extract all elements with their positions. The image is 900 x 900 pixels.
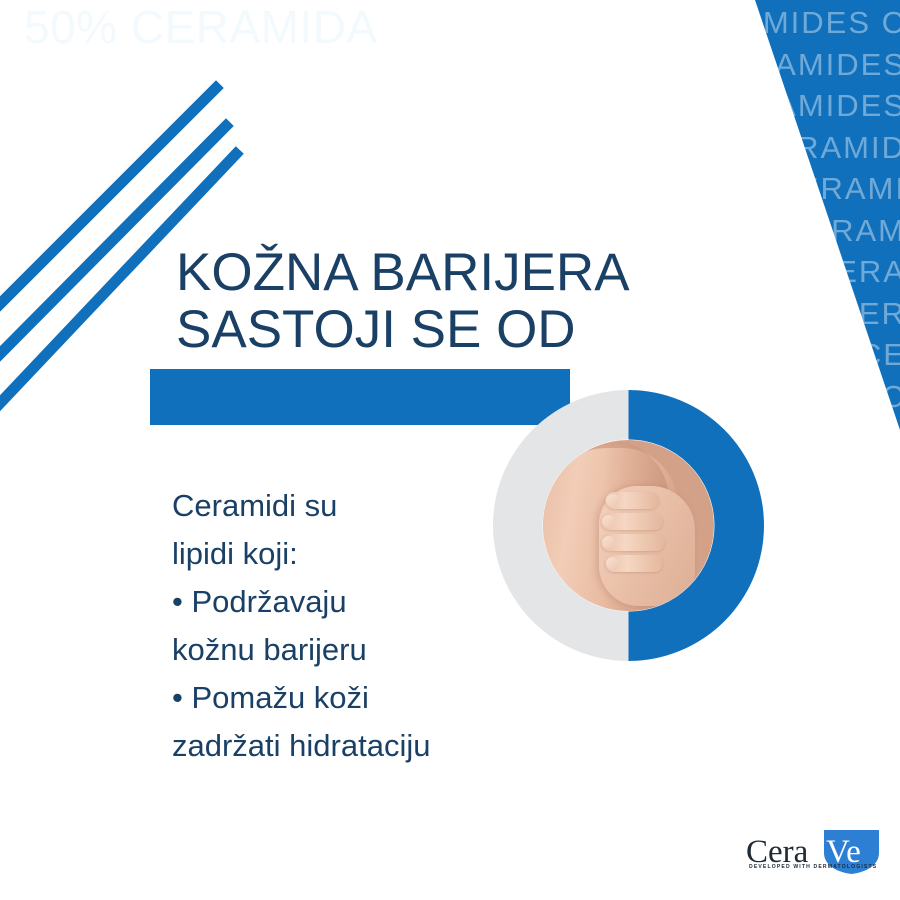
- ceramides-line: CERAMIDES C: [640, 2, 900, 44]
- ceramides-line: CERAMIDES: [640, 44, 900, 86]
- page-title: KOŽNA BARIJERA SASTOJI SE OD: [176, 244, 646, 358]
- fingernail-1: [606, 494, 619, 507]
- cerave-tagline: DEVELOPED WITH DERMATOLOGISTS: [749, 864, 877, 870]
- skin-photo-inner: [543, 440, 714, 611]
- body-line-2: lipidi koji:: [172, 530, 502, 578]
- body-bullet-1-cont: kožnu barijeru: [172, 626, 502, 674]
- body-bullet-1: • Podržavaju: [172, 578, 502, 626]
- fingernail-3: [602, 536, 615, 549]
- poster-canvas: CERAMIDES C CERAMIDES CERAMIDES CERAMID …: [0, 0, 900, 900]
- fingernail-4: [606, 557, 619, 570]
- ceramides-line: CERAMID: [640, 127, 900, 169]
- body-bullet-2-cont: zadržati hidrataciju: [172, 722, 502, 770]
- skin-photo: [543, 440, 714, 611]
- ceramides-line: CERAM: [640, 210, 900, 252]
- ceramides-line: CER: [640, 293, 900, 335]
- highlight-banner-text: 50% CERAMIDA: [24, 0, 378, 55]
- body-copy: Ceramidi su lipidi koji: • Podržavaju ko…: [172, 482, 502, 770]
- body-line-1: Ceramidi su: [172, 482, 502, 530]
- ceramides-line: CERAMIDES: [640, 85, 900, 127]
- cerave-logo: Cera Ve DEVELOPED WITH DERMATOLOGISTS: [742, 828, 882, 884]
- ceramides-line: CERA: [640, 251, 900, 293]
- headline-line-1: KOŽNA BARIJERA: [176, 244, 646, 301]
- ceramides-line: CE: [640, 334, 900, 376]
- ceramides-text-stack: CERAMIDES C CERAMIDES CERAMIDES CERAMID …: [640, 2, 900, 417]
- ceramides-pattern-triangle: CERAMIDES C CERAMIDES CERAMIDES CERAMID …: [640, 0, 900, 430]
- cerave-logo-svg: Cera Ve: [742, 828, 882, 884]
- ceramides-line: CERAMI: [640, 168, 900, 210]
- headline-line-2: SASTOJI SE OD: [176, 301, 646, 358]
- ceramide-donut-chart: [493, 390, 764, 661]
- fingernail-2: [602, 515, 615, 528]
- body-bullet-2: • Pomažu koži: [172, 674, 502, 722]
